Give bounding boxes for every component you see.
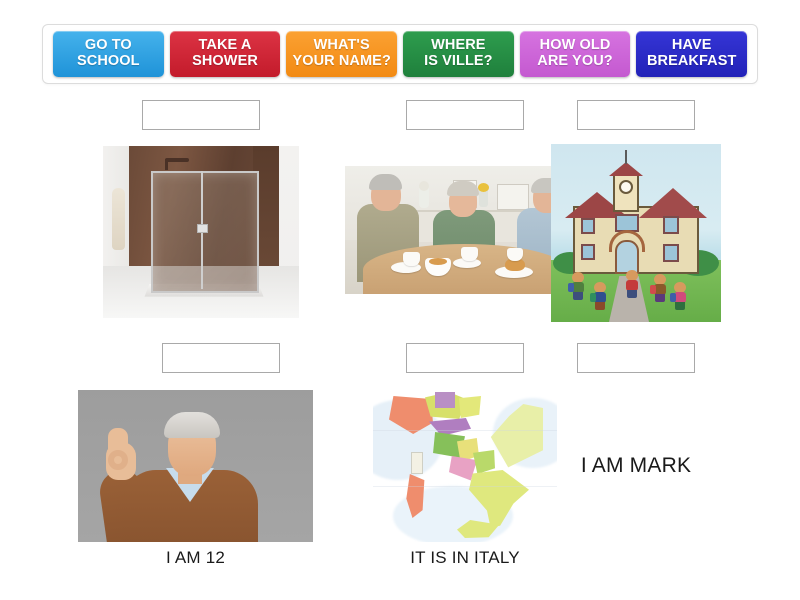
region-trentino [435, 392, 455, 408]
seniors-having-breakfast-photo [345, 166, 585, 294]
child-figure [571, 272, 585, 300]
chip-have-breakfast[interactable]: HAVE BREAKFAST [636, 31, 747, 77]
chip-label-line2: ARE YOU? [537, 54, 612, 70]
cell-shower [103, 100, 299, 318]
region-corsica [411, 452, 423, 474]
chip-label-line1: HOW OLD [537, 38, 612, 54]
chip-label-line2: SHOWER [192, 54, 258, 70]
dropzone-school[interactable] [577, 100, 695, 130]
chip-how-old-are-you[interactable]: HOW OLD ARE YOU? [520, 31, 631, 77]
cell-breakfast [345, 100, 585, 294]
hair-shape [164, 412, 220, 438]
chip-where-is-ville[interactable]: WHERE IS VILLE? [403, 31, 514, 77]
school-door-shape [615, 240, 639, 274]
child-figure [653, 274, 667, 302]
chip-label-line1: WHERE [424, 38, 493, 54]
dropzone-i-am-mark[interactable] [577, 343, 695, 373]
cell-it-is-in-italy: IT IS IN ITALY [345, 343, 585, 568]
dropzone-breakfast[interactable] [406, 100, 524, 130]
ok-gesture-icon [108, 450, 128, 470]
dropzone-it-is-in-italy[interactable] [406, 343, 524, 373]
dropzone-shower[interactable] [142, 100, 260, 130]
chip-label-line2: IS VILLE? [424, 54, 493, 70]
region-northeast [459, 396, 481, 418]
man-ok-gesture-photo [78, 390, 313, 542]
clock-icon [619, 180, 633, 194]
chip-label-line1: HAVE [647, 38, 737, 54]
coffee-cup-icon [403, 252, 420, 266]
coffee-cup-icon [507, 248, 523, 261]
shower-enclosure-photo [103, 146, 299, 318]
shower-door-handle-shape [197, 224, 208, 233]
coffee-cup-icon [461, 247, 478, 261]
chip-label-line1: GO TO [77, 38, 140, 54]
chip-label-line2: YOUR NAME? [292, 54, 390, 70]
cell-school [551, 100, 721, 322]
caption-i-am-mark: I AM MARK [581, 454, 691, 478]
cell-i-am-12: I AM 12 [103, 343, 338, 568]
school-building-cartoon [551, 144, 721, 322]
caption-it-is-in-italy: IT IS IN ITALY [345, 548, 585, 568]
chip-label-line2: BREAKFAST [647, 54, 737, 70]
chip-label-line2: SCHOOL [77, 54, 140, 70]
chip-label-line1: WHAT'S [292, 38, 390, 54]
chip-go-to-school[interactable]: GO TO SCHOOL [53, 31, 164, 77]
caption-i-am-mark-wrapper: I AM MARK [551, 390, 721, 542]
caption-i-am-12: I AM 12 [78, 548, 313, 568]
chip-whats-your-name[interactable]: WHAT'S YOUR NAME? [286, 31, 397, 77]
towel-shape [112, 188, 125, 250]
word-bank-bar: GO TO SCHOOL TAKE A SHOWER WHAT'S YOUR N… [42, 24, 758, 84]
child-figure [593, 282, 607, 310]
child-figure [625, 270, 639, 298]
child-figure [673, 282, 687, 310]
dropzone-i-am-12[interactable] [162, 343, 280, 373]
chip-label-line1: TAKE A [192, 38, 258, 54]
cell-i-am-mark: I AM MARK [551, 343, 721, 542]
italy-political-map [373, 390, 557, 542]
shower-head-shape [165, 158, 189, 162]
chip-take-a-shower[interactable]: TAKE A SHOWER [170, 31, 281, 77]
